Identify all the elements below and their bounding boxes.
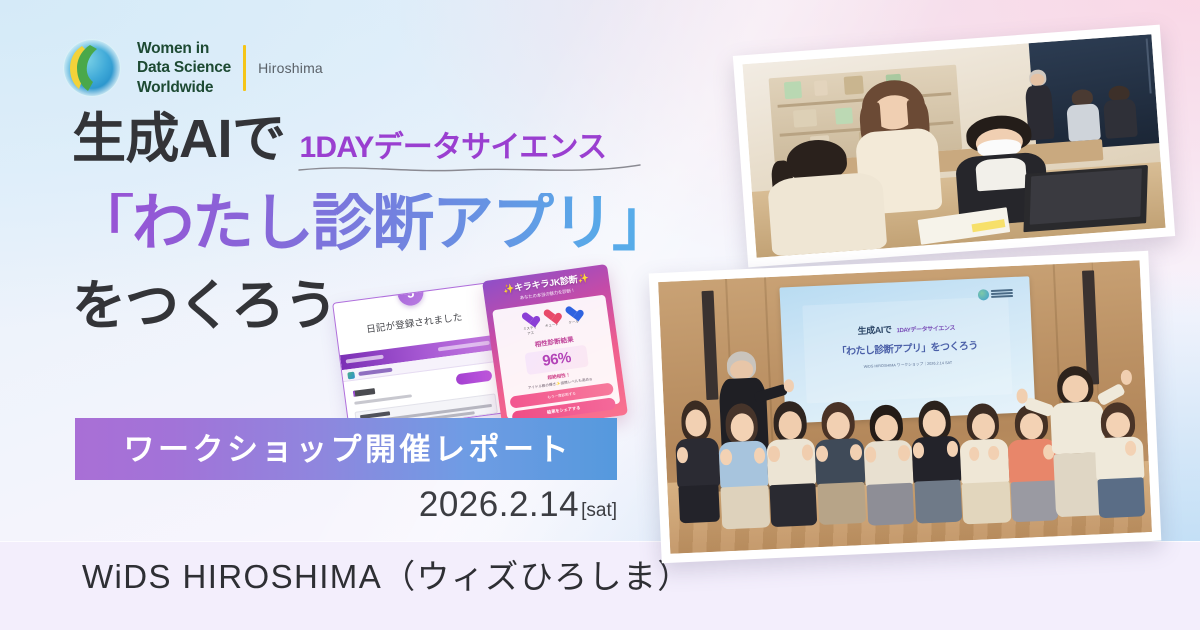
diary-mockup-button (455, 370, 492, 386)
headline-main-prefix: 生成AIで (72, 112, 286, 166)
slide-line-1-main: 生成AIで (857, 324, 891, 336)
logo-divider (243, 45, 246, 91)
slide-logo-globe-icon (977, 289, 988, 300)
hand-drawn-underline-icon (296, 159, 646, 177)
event-date-value: 2026.2.14 (419, 487, 579, 522)
group-photo-person-6 (910, 399, 964, 523)
wids-logo-line1: Women in (137, 39, 231, 58)
jk-retry-button-label: もう一度診断する (547, 391, 576, 400)
report-banner-label: ワークショップ開催レポート (120, 434, 572, 465)
headline-line-1: 生成AIで 1DAYデータサイエンス (72, 112, 712, 176)
jk-diagnosis-app-mockup: ✨キラキラJK診断✨ あなたの本当の魅力を診断！ ミステリアス キュート クール… (482, 264, 628, 432)
shelf-plant (784, 81, 802, 99)
photo-person-left (765, 136, 888, 257)
workshop-table-photo-image (742, 34, 1165, 258)
group-photo-person-7 (958, 402, 1012, 524)
slide-logo-wordmark (990, 289, 1012, 298)
photo-window-mullion (1146, 39, 1152, 93)
photo-person-background-3 (1102, 84, 1139, 139)
diary-mockup-menu (438, 341, 490, 352)
event-date-weekday: [sat] (581, 501, 617, 520)
shelf-object-1 (814, 80, 828, 95)
diary-app-icon (347, 372, 355, 380)
wids-logo-line3: Worldwide (137, 78, 231, 97)
jk-share-button-label: 結果をシェアする (547, 405, 581, 416)
shelf-object-4 (793, 109, 817, 128)
group-photo-person-4 (813, 401, 867, 525)
footer-org-name: WiDS HIROSHIMA（ウィズひろしま） (82, 560, 692, 593)
group-photo-person-3 (765, 400, 819, 527)
workshop-table-photo (733, 25, 1175, 268)
group-photo: 生成AIで1DAYデータサイエンス 「わたし診断アプリ」をつくろう WiDS H… (649, 251, 1162, 563)
wids-chapter-name: Hiroshima (258, 60, 323, 76)
photo-person-background-2 (1065, 89, 1101, 142)
wids-logo-wordmark: Women in Data Science Worldwide (137, 39, 231, 97)
heart-icon-purple (521, 310, 536, 325)
photo-laptop (1023, 165, 1148, 232)
diary-mockup-urlbar (346, 355, 384, 364)
group-photo-image: 生成AIで1DAYデータサイエンス 「わたし診断アプリ」をつくろう WiDS H… (658, 260, 1152, 554)
diary-app-mockup: 5 日記が登録されました (332, 282, 506, 433)
group-photo-person-10 (1093, 402, 1146, 518)
group-photo-person-5 (862, 404, 916, 526)
headline-app-name: 「わたし診断アプリ」 (72, 193, 672, 255)
group-photo-person-2 (717, 402, 771, 529)
headline-line-2: 「わたし診断アプリ」 (72, 184, 712, 264)
report-banner: ワークショップ開催レポート (75, 418, 617, 480)
jk-score-value: 96% (541, 349, 572, 370)
jk-mockup-panel: ミステリアス キュート クール 相性診断結果 96% 超絶相性！ アイドル級の輝… (492, 294, 620, 419)
heart-icon-blue (565, 304, 580, 319)
photo-laptop-screen (1029, 168, 1141, 224)
diary-mockup-title: 日記が登録されました (336, 305, 492, 339)
diary-section-label (353, 388, 376, 397)
event-date: 2026.2.14 [sat] (0, 487, 617, 522)
slide-wids-logo (977, 288, 1012, 301)
headline-accent-wrap: 1DAYデータサイエンス (300, 133, 607, 175)
wids-logo-line2: Data Science (137, 58, 231, 77)
projection-screen: 生成AIで1DAYデータサイエンス 「わたし診断アプリ」をつくろう WiDS H… (779, 276, 1036, 423)
heart-icon-red (543, 307, 558, 322)
poster-canvas: Women in Data Science Worldwide Hiroshim… (0, 0, 1200, 630)
shelf-object-5 (835, 107, 853, 124)
diary-app-label (358, 368, 392, 376)
wids-logo: Women in Data Science Worldwide Hiroshim… (60, 36, 323, 100)
headline-suffix: をつくろう (72, 279, 337, 333)
slide-line-1-accent: 1DAYデータサイエンス (896, 325, 955, 334)
group-photo-person-1 (673, 399, 722, 523)
wids-globe-faces-icon (60, 36, 124, 100)
